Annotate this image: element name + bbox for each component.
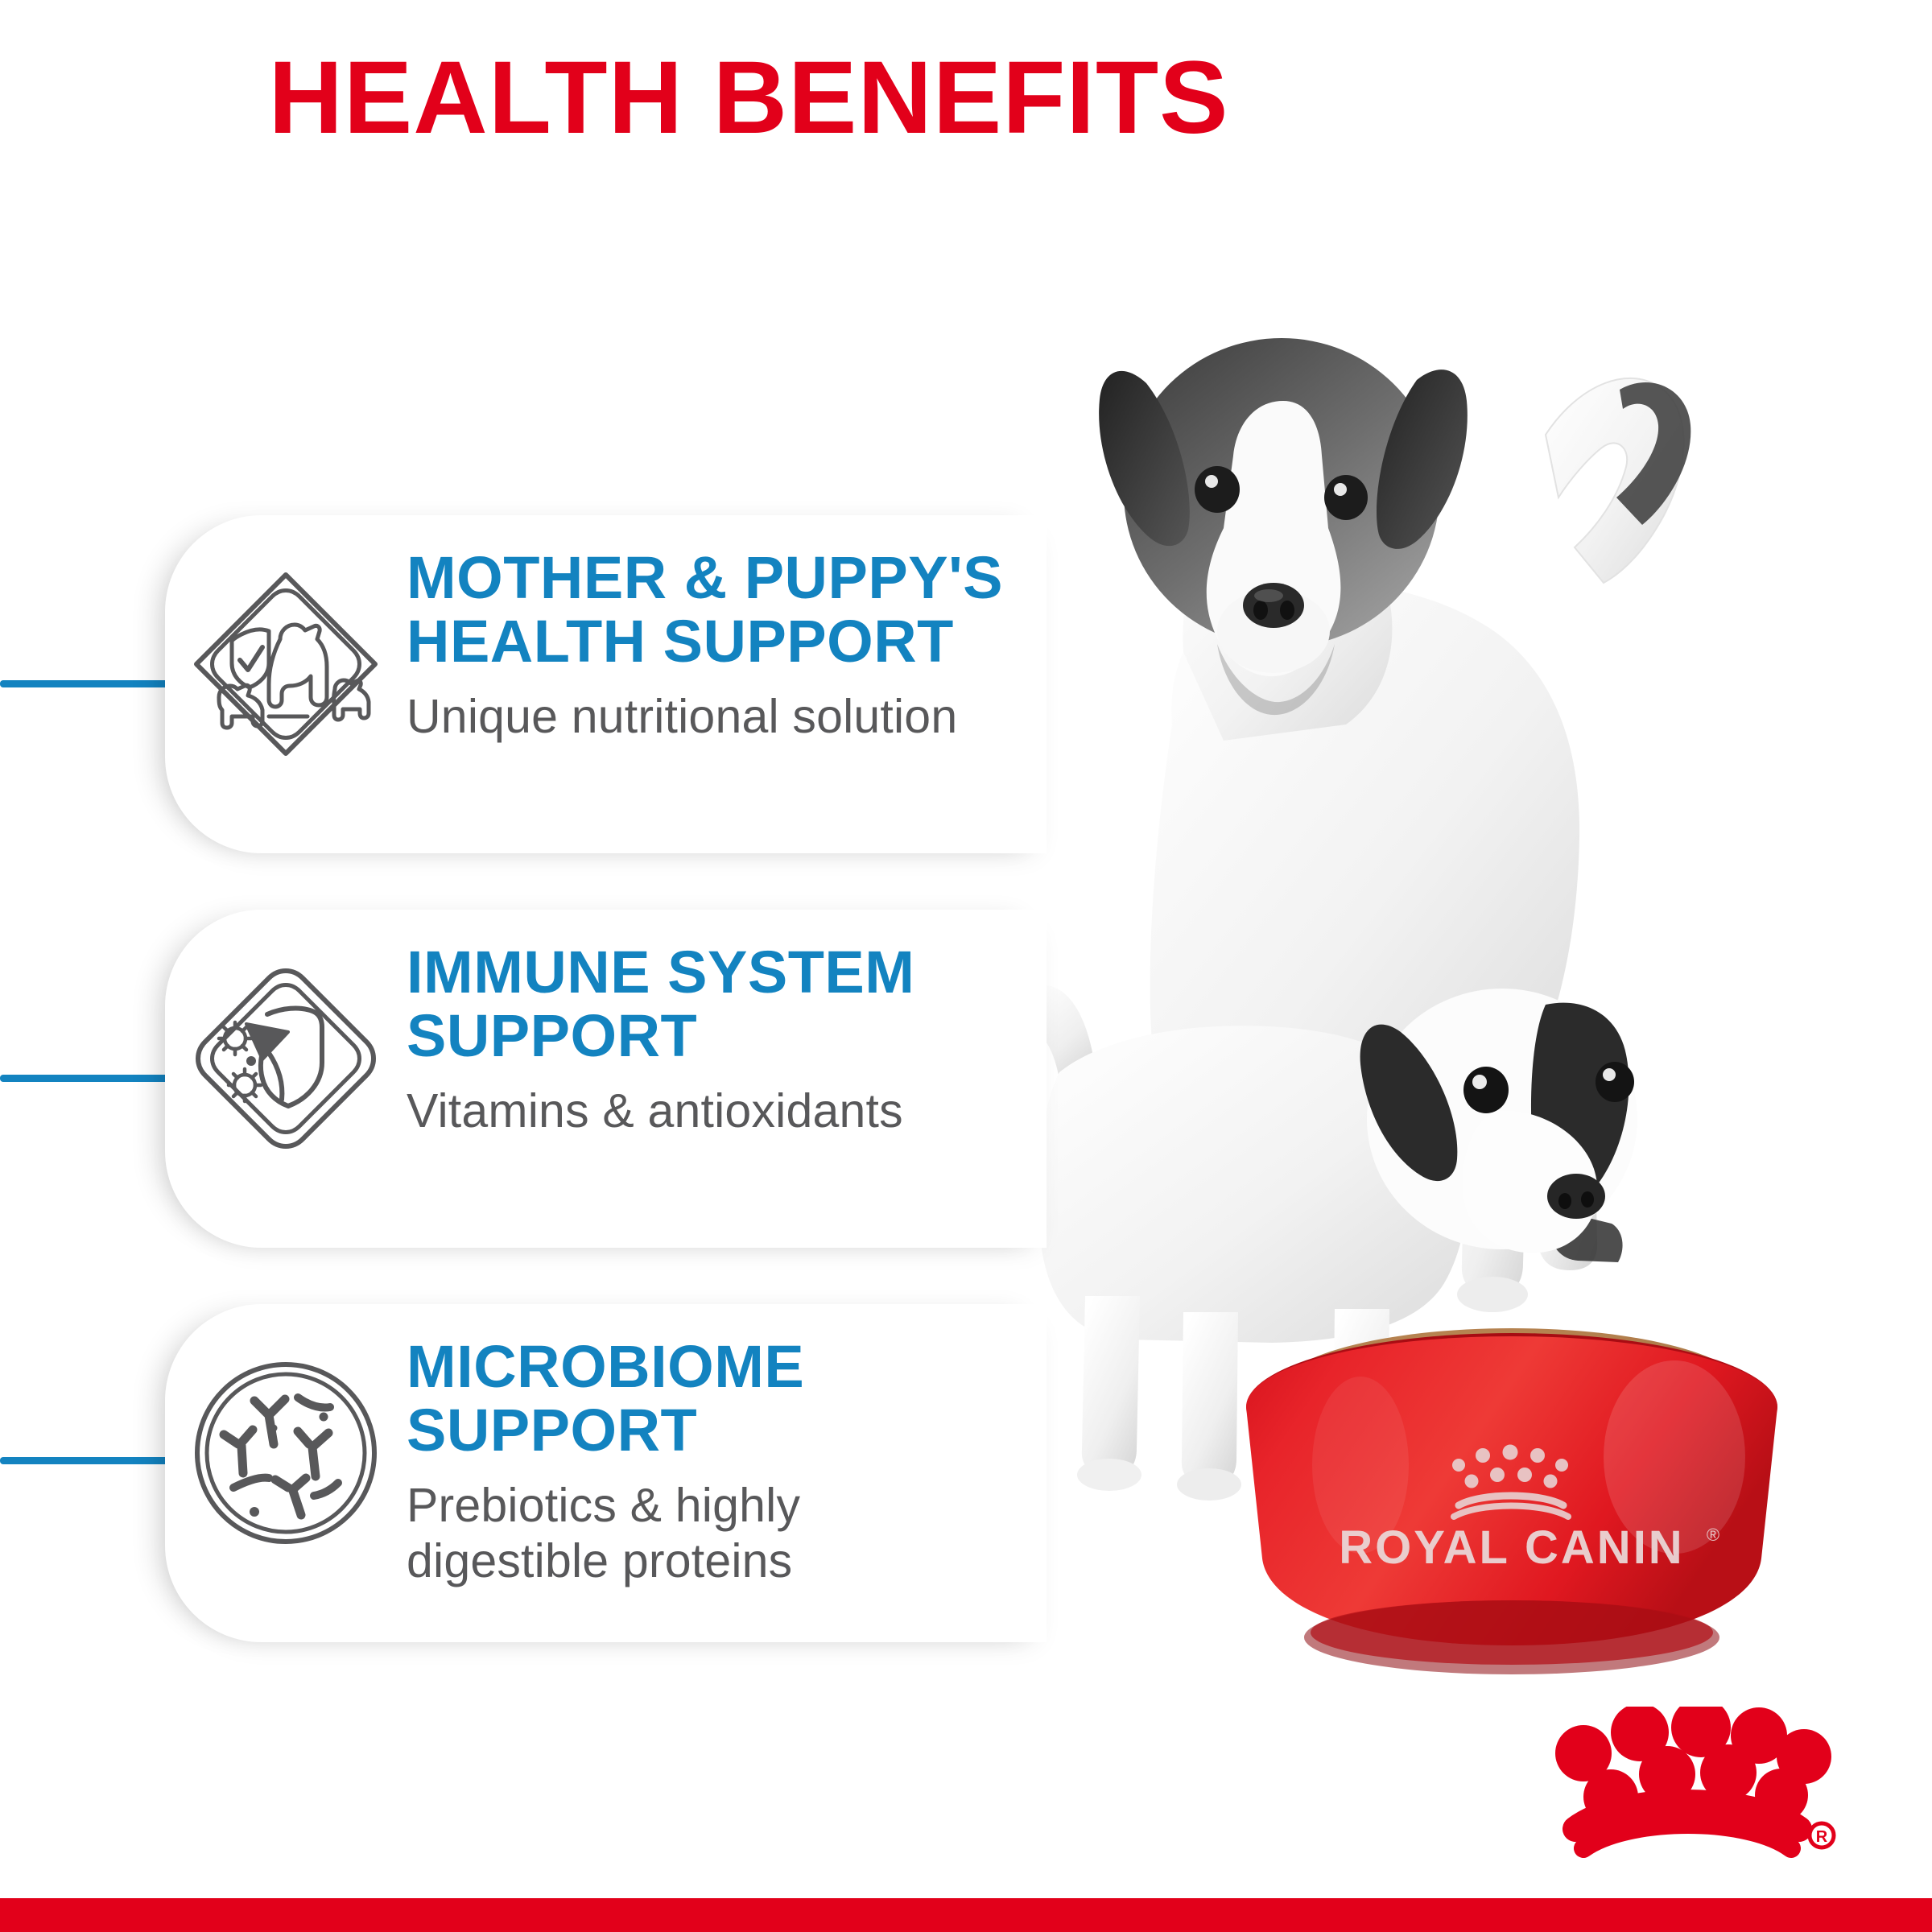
dogs-and-bowl-photo: ROYAL CANIN ® xyxy=(982,306,1932,1739)
royal-canin-crown-logo: R xyxy=(1534,1707,1839,1880)
benefit-subtitle: Prebiotics & highly digestible proteins xyxy=(407,1478,1014,1588)
benefit-text-mother-puppy: MOTHER & PUPPY'S HEALTH SUPPORT Unique n… xyxy=(407,546,1046,745)
benefit-card-mother-puppy[interactable]: MOTHER & PUPPY'S HEALTH SUPPORT Unique n… xyxy=(165,515,1046,853)
benefit-subtitle: Unique nutritional solution xyxy=(407,689,1014,744)
svg-text:R: R xyxy=(1816,1828,1828,1846)
benefit-card-microbiome[interactable]: MICROBIOME SUPPORT Prebiotics & highly d… xyxy=(165,1304,1046,1642)
bottom-brand-bar xyxy=(0,1898,1932,1932)
health-benefits-page: HEALTH BENEFITS xyxy=(0,0,1932,1932)
benefit-row-mother-puppy: MOTHER & PUPPY'S HEALTH SUPPORT Unique n… xyxy=(0,515,1046,910)
benefit-title: MICROBIOME SUPPORT xyxy=(407,1335,1014,1462)
benefit-text-immune: IMMUNE SYSTEM SUPPORT Vitamins & antioxi… xyxy=(407,940,1046,1139)
bowl-brand-text: ROYAL CANIN xyxy=(1339,1521,1684,1574)
benefit-card-immune[interactable]: IMMUNE SYSTEM SUPPORT Vitamins & antioxi… xyxy=(165,910,1046,1248)
benefit-title: IMMUNE SYSTEM SUPPORT xyxy=(407,940,1014,1067)
svg-text:®: ® xyxy=(1707,1525,1719,1545)
benefit-row-microbiome: MICROBIOME SUPPORT Prebiotics & highly d… xyxy=(0,1304,1046,1699)
benefit-text-microbiome: MICROBIOME SUPPORT Prebiotics & highly d… xyxy=(407,1335,1046,1588)
page-title: HEALTH BENEFITS xyxy=(0,44,1497,152)
registered-mark-icon: R xyxy=(1810,1823,1834,1847)
benefit-subtitle: Vitamins & antioxidants xyxy=(407,1084,1014,1138)
benefit-row-immune: IMMUNE SYSTEM SUPPORT Vitamins & antioxi… xyxy=(0,910,1046,1304)
mother-and-puppies-shield-icon xyxy=(165,546,407,765)
shield-deflecting-germs-icon xyxy=(165,940,407,1159)
benefits-list: MOTHER & PUPPY'S HEALTH SUPPORT Unique n… xyxy=(0,515,1046,1699)
benefit-title: MOTHER & PUPPY'S HEALTH SUPPORT xyxy=(407,546,1014,673)
microbiome-petri-dish-icon xyxy=(165,1335,407,1554)
bowl-crown-icon xyxy=(1452,1445,1568,1517)
